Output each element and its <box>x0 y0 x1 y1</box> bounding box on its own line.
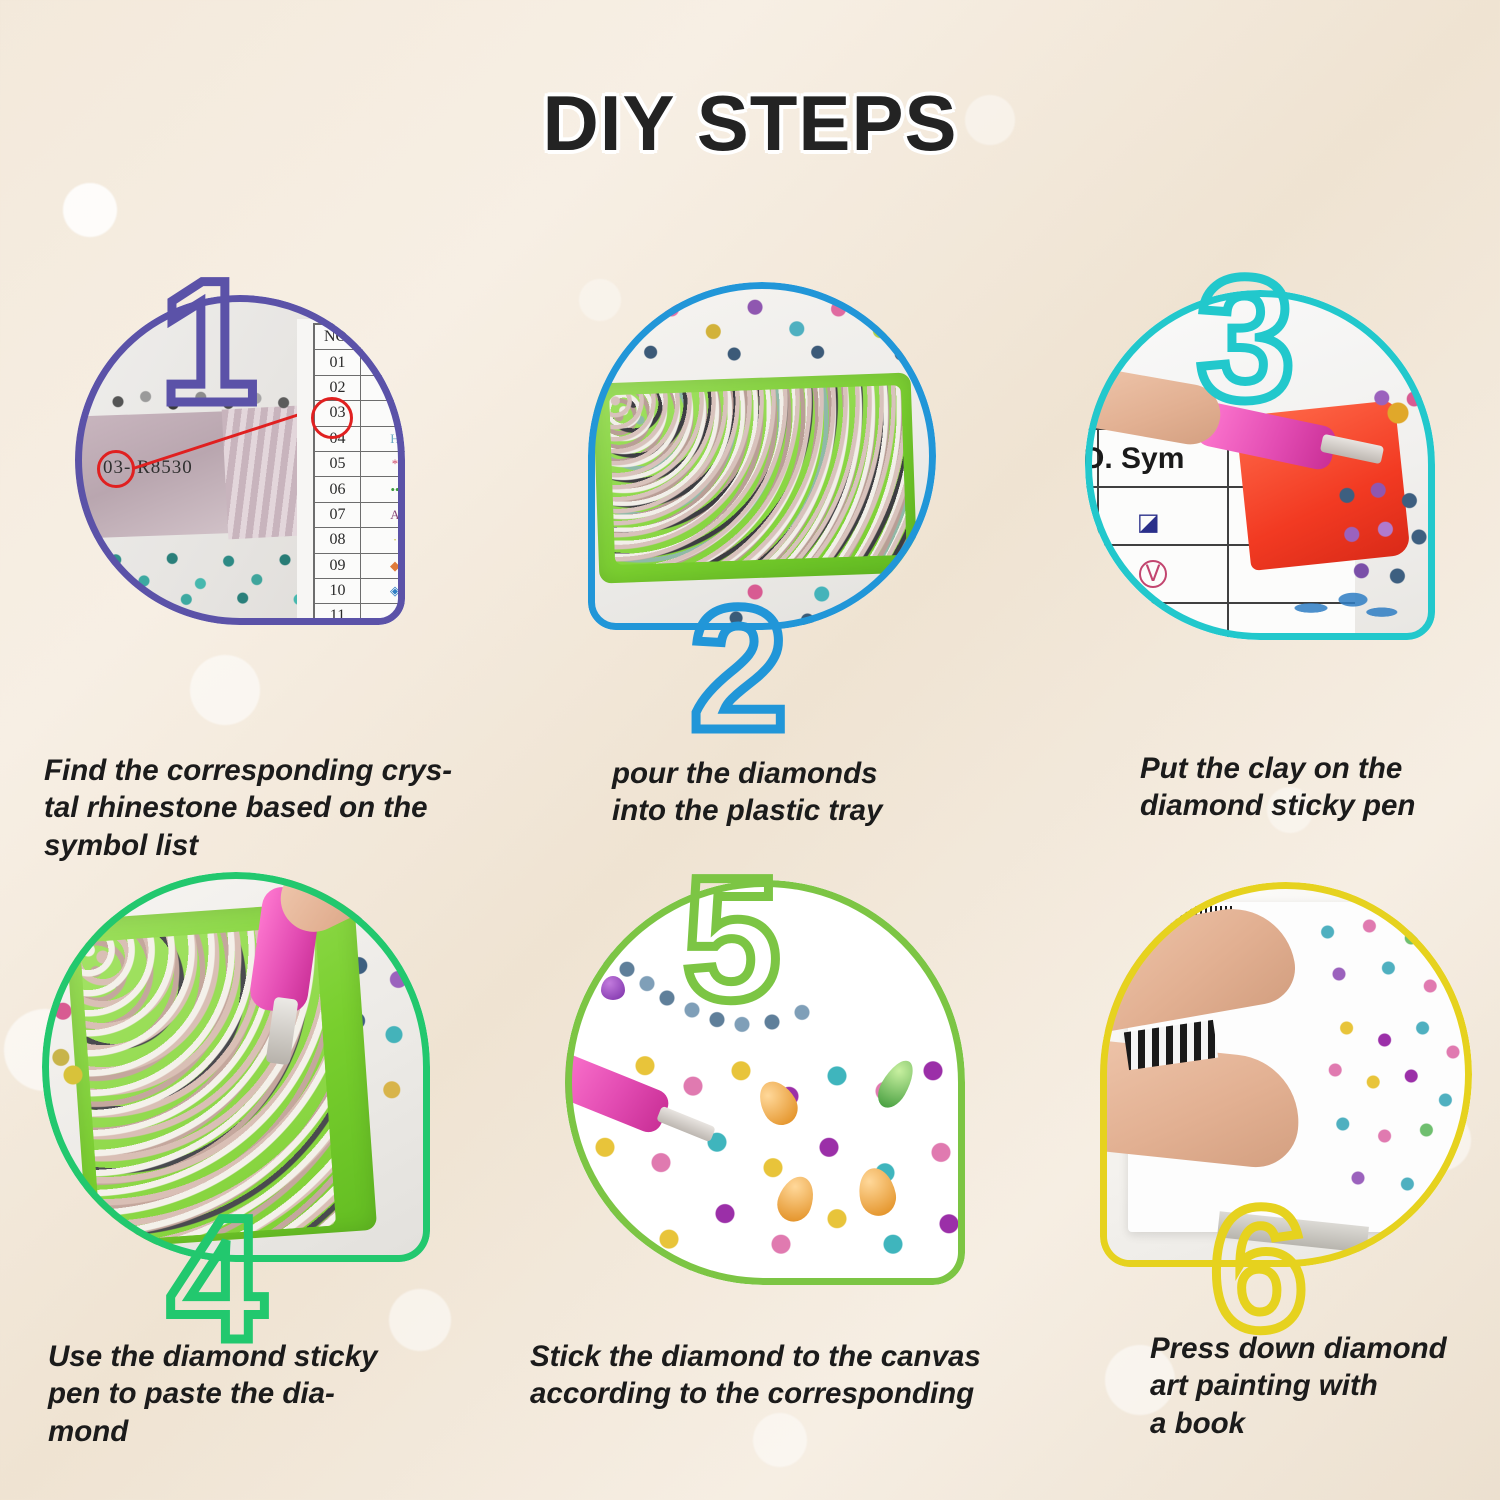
row-symbol: ◈ <box>361 579 405 603</box>
tray-drills <box>609 385 907 565</box>
row-symbol <box>361 604 405 625</box>
diy-steps-poster: DIY STEPS 03- R8530 <box>0 0 1500 1500</box>
table-row: 01 <box>315 350 405 375</box>
row-symbol <box>361 350 405 374</box>
row-no: 09 <box>315 554 361 578</box>
row-symbol: H <box>361 427 405 451</box>
canvas-symbol-3: + <box>1139 608 1167 636</box>
page-title: DIY STEPS <box>0 78 1500 169</box>
canvas-beadwork-top <box>588 282 936 372</box>
step-2-number: 2 <box>690 582 787 757</box>
table-header-symbol <box>361 325 405 349</box>
canvas-star-decor <box>1371 386 1425 440</box>
row-symbol: + <box>361 401 405 425</box>
step-3-number: 3 <box>1197 252 1294 427</box>
butterfly-painting-beadwork <box>1282 908 1472 1208</box>
row-no: 10 <box>315 579 361 603</box>
row-no: 05 <box>315 452 361 476</box>
step-1-caption: Find the corresponding crys- tal rhinest… <box>44 752 494 864</box>
table-row: 06•• <box>315 477 405 502</box>
table-header-row: NO. <box>315 325 405 350</box>
table-row: 11 <box>315 604 405 625</box>
step-5-number: 5 <box>683 852 780 1027</box>
table-row: 08· <box>315 528 405 553</box>
table-header-no: NO. <box>315 325 361 349</box>
row-no: 07 <box>315 503 361 527</box>
canvas-symbol-1: ◪ <box>1137 508 1160 536</box>
row-symbol: A <box>361 503 405 527</box>
table-row: 09◆ <box>315 554 405 579</box>
table-row: 10◈ <box>315 579 405 604</box>
row-symbol: V <box>361 376 405 400</box>
canvas-header-right: Sym <box>1121 442 1184 476</box>
canvas-leaf-decor <box>1281 582 1401 634</box>
symbol-list-table: NO. 01 02V 03+ 04H 05* 06•• 07A 08· 09◆ … <box>313 323 405 625</box>
row-no: 11 <box>315 604 361 625</box>
row-no: 01 <box>315 350 361 374</box>
purple-gem <box>601 976 625 1000</box>
step-3-caption: Put the clay on the diamond sticky pen <box>1140 750 1500 825</box>
row-no: 02 <box>315 376 361 400</box>
highlight-circle-bag <box>97 450 135 488</box>
step-5-caption: Stick the diamond to the canvas accordin… <box>530 1338 1070 1413</box>
table-row: 05* <box>315 452 405 477</box>
highlight-circle-table <box>311 397 353 439</box>
step-6-caption: Press down diamond art painting with a b… <box>1150 1330 1500 1442</box>
row-symbol: * <box>361 452 405 476</box>
row-no: 08 <box>315 528 361 552</box>
step-4-number: 4 <box>168 1192 265 1367</box>
step-6-number: 6 <box>1210 1182 1307 1357</box>
row-symbol: · <box>361 528 405 552</box>
canvas-star-decor <box>46 1048 100 1102</box>
row-symbol: ◆ <box>361 554 405 578</box>
row-symbol: •• <box>361 477 405 501</box>
step-1-number: 1 <box>160 255 257 430</box>
step-2-caption: pour the diamonds into the plastic tray <box>612 755 1032 830</box>
canvas-symbol-2: V <box>1139 560 1167 588</box>
table-row: 07A <box>315 503 405 528</box>
canvas-header-left: O. <box>1085 442 1113 476</box>
row-no: 06 <box>315 477 361 501</box>
